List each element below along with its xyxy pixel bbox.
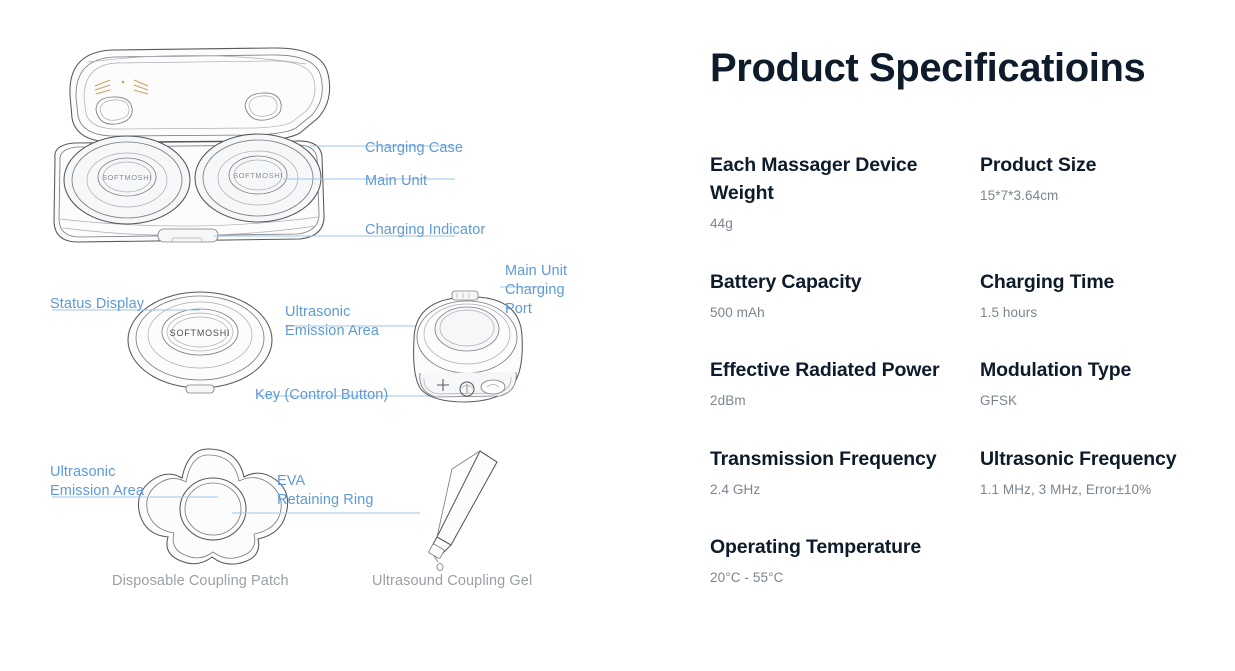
spec-item-battery-capacity: Battery Capacity 500 mAh [710, 268, 980, 324]
product-diagram-panel: .ln { fill:none; stroke:#55585c; stroke-… [0, 0, 660, 671]
callout-charging-case: Charging Case [365, 139, 463, 158]
callout-main-unit-charging-port: Main Unit Charging Port [505, 262, 567, 319]
callout-key-control-button: Key (Control Button) [255, 386, 388, 405]
spec-value: GFSK [980, 391, 1179, 411]
spec-item-transmission-frequency: Transmission Frequency 2.4 GHz [710, 445, 980, 501]
callout-status-display: Status Display [50, 295, 144, 314]
spec-value: 2.4 GHz [710, 480, 964, 500]
callout-ultrasonic-emission-area-bottom: Ultrasonic Emission Area [50, 463, 144, 501]
spec-label: Modulation Type [980, 356, 1179, 384]
coupling-gel-tube-drawing [428, 451, 497, 571]
spec-item-product-size: Product Size 15*7*3.64cm [980, 151, 1195, 235]
spec-value: 500 mAh [710, 303, 964, 323]
product-spec-page: .ln { fill:none; stroke:#55585c; stroke-… [0, 0, 1235, 671]
callout-main-unit: Main Unit [365, 172, 427, 191]
spec-label: Each Massager Device Weight [710, 151, 960, 208]
brand-mark-top-view: SOFTMOSHI [170, 328, 231, 338]
callout-charging-indicator: Charging Indicator [365, 221, 485, 240]
spec-value: 44g [710, 214, 964, 234]
spec-label: Transmission Frequency [710, 445, 960, 473]
spec-item-operating-temperature: Operating Temperature 20°C - 55°C [710, 533, 980, 589]
spec-value: 20°C - 55°C [710, 568, 964, 588]
spec-label: Ultrasonic Frequency [980, 445, 1179, 473]
spec-label: Effective Radiated Power [710, 356, 960, 384]
spec-label: Product Size [980, 151, 1179, 179]
spec-value: 1.1 MHz, 3 MHz, Error±10% [980, 480, 1179, 500]
brand-mark-left: SOFTMOSHI [102, 173, 152, 182]
page-title: Product Specificatioins [710, 46, 1195, 91]
spec-item-each-massager-device-weight: Each Massager Device Weight 44g [710, 151, 980, 235]
spec-value: 15*7*3.64cm [980, 186, 1179, 206]
caption-disposable-coupling-patch: Disposable Coupling Patch [112, 573, 289, 589]
specifications-panel: Product Specificatioins Each Massager De… [660, 0, 1235, 671]
spec-item-modulation-type: Modulation Type GFSK [980, 356, 1195, 412]
spec-label: Charging Time [980, 268, 1179, 296]
spec-item-ultrasonic-frequency: Ultrasonic Frequency 1.1 MHz, 3 MHz, Err… [980, 445, 1195, 501]
brand-mark-right: SOFTMOSHI [233, 171, 283, 180]
spec-value: 2dBm [710, 391, 964, 411]
caption-ultrasound-coupling-gel: Ultrasound Coupling Gel [372, 573, 532, 589]
spec-label: Battery Capacity [710, 268, 960, 296]
specifications-grid: Each Massager Device Weight 44g Product … [710, 151, 1195, 622]
callout-ultrasonic-emission-area-top: Ultrasonic Emission Area [285, 303, 379, 341]
spec-item-effective-radiated-power: Effective Radiated Power 2dBm [710, 356, 980, 412]
spec-value: 1.5 hours [980, 303, 1179, 323]
spec-label: Operating Temperature [710, 533, 960, 561]
callout-eva-retaining-ring: EVA Retaining Ring [277, 472, 374, 510]
spec-item-charging-time: Charging Time 1.5 hours [980, 268, 1195, 324]
